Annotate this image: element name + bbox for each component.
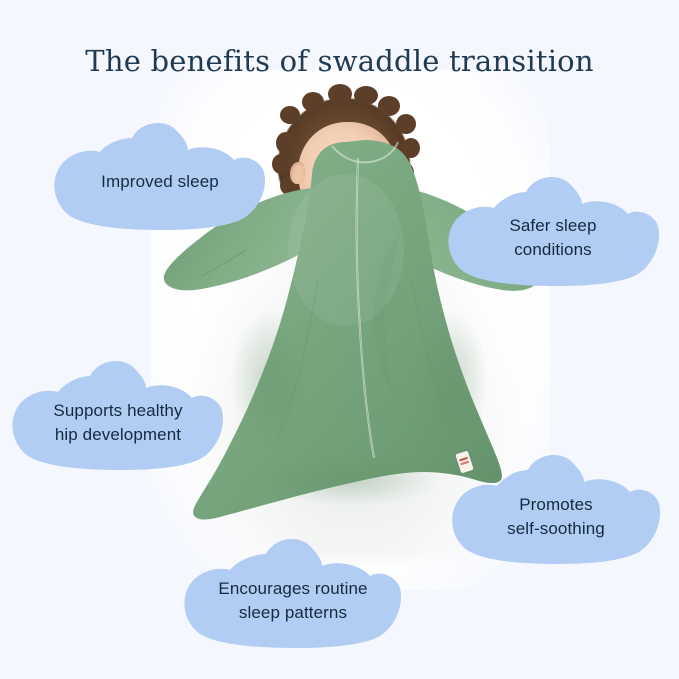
benefit-cloud-routine-sleep[interactable]: Encourages routine sleep patterns [182,534,404,652]
benefit-cloud-safer-sleep[interactable]: Safer sleep conditions [444,170,662,290]
infographic-canvas: The benefits of swaddle transition [0,0,679,679]
cloud-shape [52,116,268,234]
benefit-cloud-self-soothing[interactable]: Promotes self-soothing [450,450,662,568]
cloud-shape [182,534,404,652]
benefit-cloud-hip-development[interactable]: Supports healthy hip development [10,356,226,474]
cloud-shape [444,170,662,290]
cloud-shape [450,450,662,568]
benefit-cloud-improved-sleep[interactable]: Improved sleep [52,116,268,234]
page-title: The benefits of swaddle transition [0,44,679,78]
cloud-shape [10,356,226,474]
